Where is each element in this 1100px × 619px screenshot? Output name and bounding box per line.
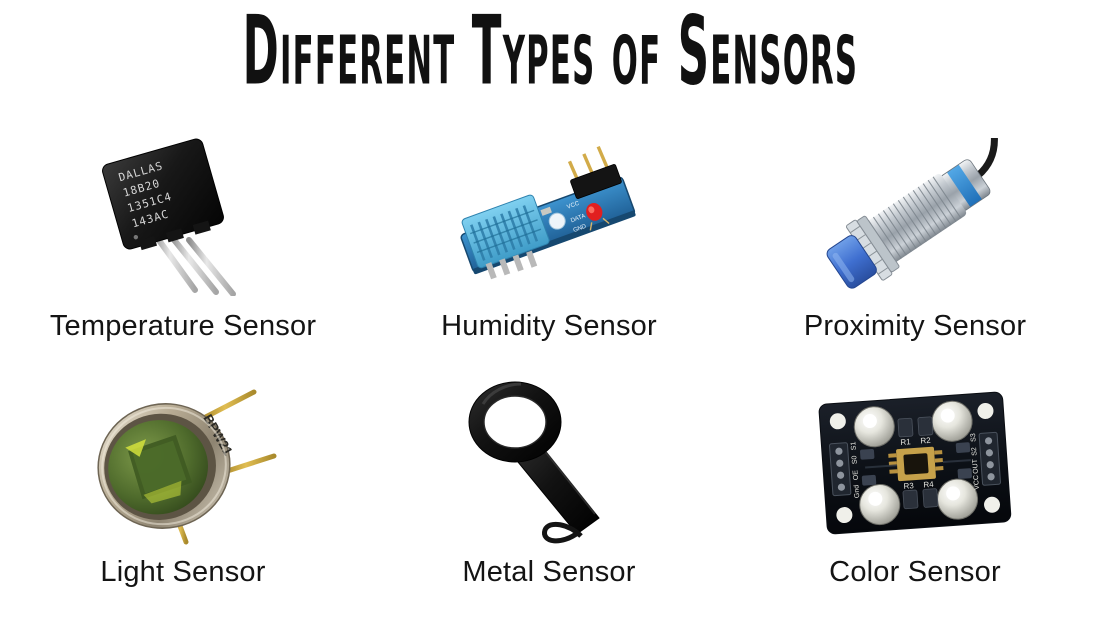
svg-text:Gnd: Gnd bbox=[853, 485, 861, 499]
sensor-cell-color[interactable]: R1 R2 R3 R4 bbox=[732, 372, 1098, 602]
sensor-row-bottom: BPW21 Light Sensor bbox=[0, 372, 1100, 602]
light-sensor-image: BPW21 bbox=[78, 378, 288, 548]
sensor-cell-light[interactable]: BPW21 Light Sensor bbox=[0, 372, 366, 602]
svg-text:R4: R4 bbox=[923, 480, 934, 490]
metal-sensor-art-slot bbox=[366, 372, 732, 544]
svg-text:OE: OE bbox=[852, 469, 860, 480]
svg-text:R2: R2 bbox=[920, 436, 931, 446]
svg-text:OUT: OUT bbox=[972, 458, 980, 474]
sensor-label-color: Color Sensor bbox=[732, 558, 1098, 587]
temperature-sensor-leads bbox=[153, 232, 233, 294]
sensor-label-temperature: Temperature Sensor bbox=[0, 312, 366, 341]
humidity-sensor-image: VCC DATA GND bbox=[439, 142, 659, 302]
metal-sensor-image bbox=[449, 376, 649, 548]
sensor-label-humidity: Humidity Sensor bbox=[366, 312, 732, 341]
sensor-label-proximity: Proximity Sensor bbox=[732, 312, 1098, 341]
light-sensor-can: BPW21 bbox=[87, 390, 249, 540]
color-sensor-right-header bbox=[979, 432, 1001, 485]
light-sensor-art-slot: BPW21 bbox=[0, 372, 366, 544]
sensor-label-light: Light Sensor bbox=[0, 558, 366, 587]
sensor-poster: Different Types of Sensors bbox=[0, 0, 1100, 619]
proximity-sensor-art-slot bbox=[732, 130, 1098, 290]
sensor-cell-temperature[interactable]: DALLAS 18B20 1351C4 143AC Temperature Se… bbox=[0, 130, 366, 345]
svg-text:S1: S1 bbox=[850, 441, 858, 450]
temperature-sensor-body: DALLAS 18B20 1351C4 143AC bbox=[101, 137, 226, 254]
proximity-sensor-image bbox=[795, 138, 1035, 298]
sensor-row-top: DALLAS 18B20 1351C4 143AC Temperature Se… bbox=[0, 130, 1100, 345]
svg-text:R3: R3 bbox=[903, 481, 914, 491]
temperature-sensor-image: DALLAS 18B20 1351C4 143AC bbox=[83, 136, 283, 296]
svg-text:S0: S0 bbox=[851, 455, 859, 464]
svg-text:R1: R1 bbox=[900, 437, 911, 447]
color-sensor-left-header bbox=[829, 443, 851, 496]
svg-text:VCC: VCC bbox=[973, 475, 981, 490]
svg-text:S3: S3 bbox=[970, 433, 978, 442]
temperature-sensor-art-slot: DALLAS 18B20 1351C4 143AC bbox=[0, 130, 366, 290]
title-block: Different Types of Sensors bbox=[0, 4, 1100, 82]
color-sensor-art-slot: R1 R2 R3 R4 bbox=[732, 372, 1098, 544]
color-sensor-image: R1 R2 R3 R4 bbox=[805, 380, 1025, 548]
metal-sensor-coil bbox=[469, 382, 561, 462]
sensor-cell-metal[interactable]: Metal Sensor bbox=[366, 372, 732, 602]
sensor-label-metal: Metal Sensor bbox=[366, 558, 732, 587]
svg-text:S2: S2 bbox=[971, 447, 979, 456]
sensor-cell-humidity[interactable]: VCC DATA GND bbox=[366, 130, 732, 345]
page-title: Different Types of Sensors bbox=[242, 4, 858, 99]
sensor-cell-proximity[interactable]: Proximity Sensor bbox=[732, 130, 1098, 345]
humidity-sensor-art-slot: VCC DATA GND bbox=[366, 130, 732, 290]
